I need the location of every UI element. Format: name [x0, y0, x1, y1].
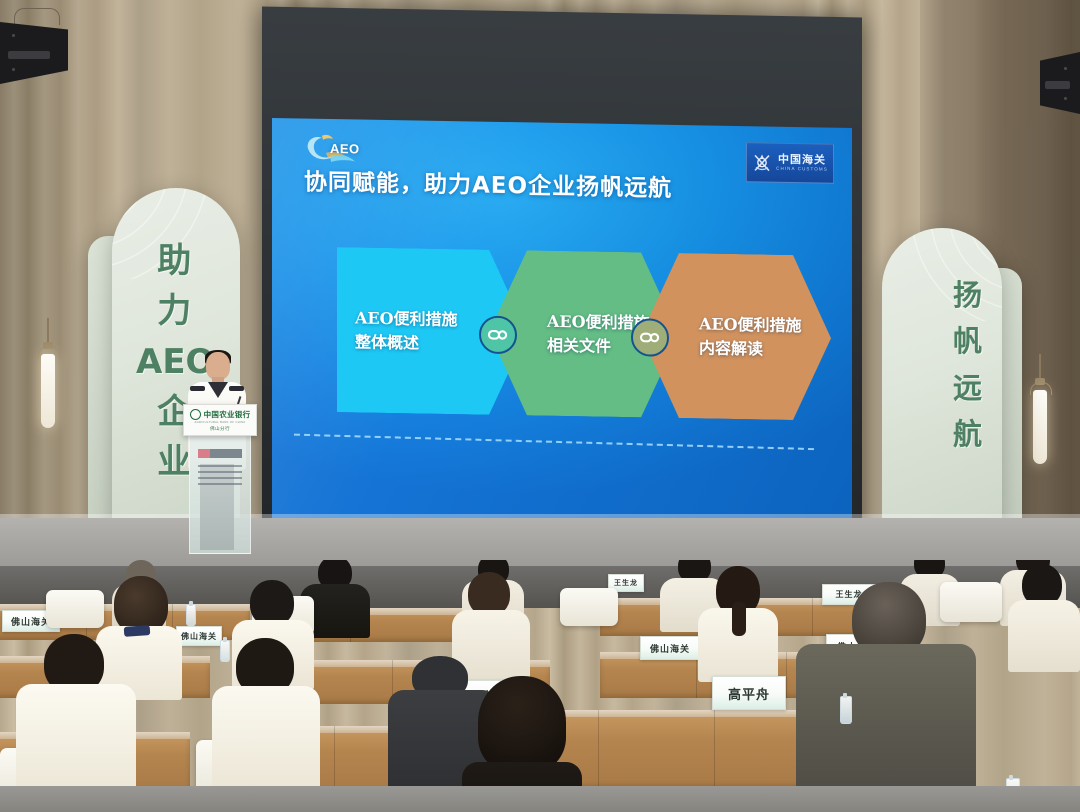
- lamp-shade: [41, 354, 55, 428]
- water-bottle: [186, 604, 196, 626]
- person-torso: [16, 684, 136, 796]
- name-card: 高平舟: [712, 676, 786, 710]
- person-torso: [796, 644, 976, 796]
- customs-emblem-icon: [752, 151, 772, 173]
- lamp-shade: [1033, 390, 1047, 464]
- name-card: 佛山海关: [640, 636, 700, 660]
- water-bottle: [840, 696, 852, 724]
- flow-step-1-line2: 整体概述: [355, 330, 458, 355]
- banner-char: 扬: [953, 272, 984, 318]
- chain-link-icon-2: [631, 318, 669, 357]
- flow-step-1-label: AEO便利措施 整体概述: [355, 307, 458, 355]
- lectern-sign-row: 中国农业银行: [190, 409, 251, 420]
- skirt-fold: [714, 710, 715, 788]
- lectern-panel-logo: [198, 449, 242, 458]
- flow-step-3-label: AEO便利措施 内容解读: [699, 313, 802, 361]
- ponytail: [732, 602, 746, 636]
- decorative-rings: [882, 228, 1002, 321]
- speaker-bolt: [1064, 97, 1067, 100]
- slide-dashed-divider: [294, 434, 814, 451]
- audience-person-ponytail: [698, 566, 778, 678]
- flow-step-1-line1: AEO便利措施: [355, 307, 458, 332]
- customs-logo-en: CHINA CUSTOMS: [776, 167, 828, 172]
- lectern-glass-panel: [189, 430, 251, 554]
- speaker-grille: [1045, 81, 1070, 90]
- skirt-fold: [786, 652, 787, 698]
- room-floor: [0, 786, 1080, 812]
- speaker-bracket-left: [14, 8, 60, 25]
- audience-area: 佛山海关 王生龙 王生龙: [0, 560, 1080, 812]
- lectern-sign: 中国农业银行 AGRICULTURAL BANK OF CHINA 佛山分行: [183, 404, 257, 436]
- presenter-epaulet-left: [190, 386, 205, 391]
- flow-step-3-line1: AEO便利措施: [699, 313, 802, 338]
- chain-link-icon-1: [479, 316, 517, 355]
- right-banner-text: 扬 帆 远 航: [953, 272, 984, 458]
- backdrop-panel-right: [882, 228, 1002, 536]
- lectern-sign-en: AGRICULTURAL BANK OF CHINA: [194, 421, 245, 424]
- lectern-sign-cn: 中国农业银行: [204, 409, 251, 420]
- chain-link-glyph: [488, 329, 508, 341]
- presentation-slide: AEO 协同赋能，助力AEO企业扬帆远航 中国海关 CHINA CUSTOMS …: [272, 118, 852, 528]
- customs-logo-cn: 中国海关: [778, 154, 826, 166]
- audience-person-front: [212, 638, 320, 790]
- lamp-cord: [1039, 354, 1041, 380]
- audience-person: [1008, 564, 1080, 670]
- lectern-sign-branch: 佛山分行: [210, 426, 230, 432]
- process-flow-diagram: AEO便利措施 整体概述 AEO便利措施 相关文件 AEO便利措施 内容解读: [337, 247, 807, 420]
- speaker-bolt: [1064, 67, 1067, 70]
- eyeglasses: [858, 622, 882, 629]
- lectern: 中国农业银行 AGRICULTURAL BANK OF CHINA 佛山分行: [183, 404, 255, 552]
- banner-char: 航: [953, 411, 984, 457]
- person-hair: [478, 676, 566, 772]
- skirt-fold: [598, 710, 599, 788]
- ceiling-speaker-right: [1040, 52, 1080, 114]
- banner-char: 力: [157, 286, 193, 336]
- audience-person-front-right: [796, 582, 976, 792]
- banner-char: 助: [157, 236, 193, 286]
- skirt-fold: [334, 726, 335, 792]
- customs-logo-text: 中国海关 CHINA CUSTOMS: [776, 154, 828, 172]
- flow-step-3-line2: 内容解读: [699, 336, 802, 361]
- speaker-bolt: [12, 34, 15, 37]
- speaker-grille: [8, 51, 50, 60]
- speaker-bolt: [12, 68, 15, 71]
- presenter-head: [206, 352, 230, 380]
- audience-person-front-left: [16, 634, 136, 794]
- slide-title: 协同赋能，助力AEO企业扬帆远航: [304, 162, 672, 202]
- chair-back: [560, 588, 618, 626]
- lectern-panel-text: [198, 465, 242, 487]
- banner-char: 远: [953, 365, 984, 411]
- person-torso: [212, 686, 320, 794]
- aeo-logo-text: AEO: [330, 141, 360, 157]
- person-torso: [1008, 600, 1080, 672]
- presenter-epaulet-right: [229, 386, 244, 391]
- chain-link-glyph: [640, 331, 660, 343]
- banner-char: 帆: [953, 318, 984, 364]
- lamp-cord: [47, 318, 49, 344]
- china-customs-logo: 中国海关 CHINA CUSTOMS: [746, 142, 834, 184]
- conference-room-photo: AEO 协同赋能，助力AEO企业扬帆远航 中国海关 CHINA CUSTOMS …: [0, 0, 1080, 812]
- flow-step-3: AEO便利措施 内容解读: [641, 252, 831, 420]
- bank-emblem-icon: [190, 409, 201, 420]
